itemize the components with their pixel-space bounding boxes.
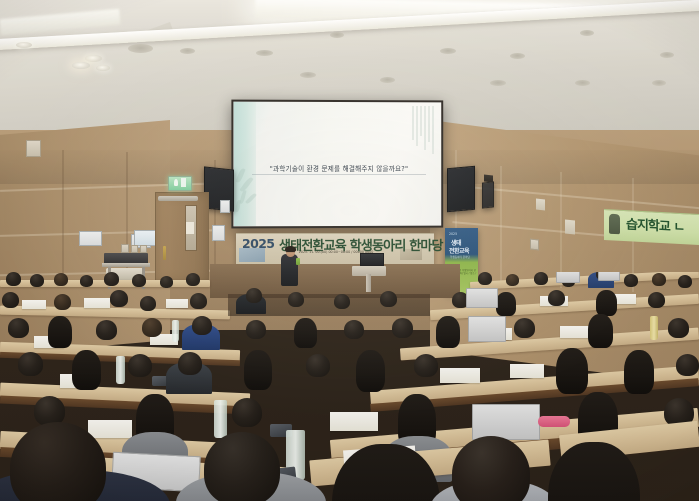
door-notice-paper	[186, 222, 194, 234]
wall-notice-sign	[79, 231, 102, 246]
water-bottle	[172, 320, 179, 342]
water-bottle	[116, 356, 125, 384]
audience-head	[80, 275, 93, 287]
downlight	[380, 77, 395, 83]
audience-head	[18, 352, 43, 376]
rollup-banner-year: 2025	[449, 232, 457, 236]
exit-sign-figure	[174, 179, 178, 186]
laptop	[468, 316, 506, 342]
downlight	[85, 55, 102, 62]
downlight	[440, 48, 456, 54]
paper-sheet	[330, 412, 378, 431]
electrical-outlet	[131, 245, 138, 253]
slide-stripe-decoration	[416, 106, 418, 146]
wall-speaker-icon	[536, 199, 545, 211]
audience-head	[140, 296, 156, 311]
stage-monitor	[360, 253, 384, 266]
exit-sign-doorway	[181, 178, 186, 187]
audience-head	[514, 318, 535, 338]
audience-head	[190, 293, 207, 309]
door-icon[interactable]	[155, 192, 209, 284]
audience-head	[246, 320, 266, 339]
laptop	[556, 272, 580, 283]
downlight	[72, 62, 90, 69]
audience-head	[246, 288, 262, 303]
audience-head	[160, 276, 173, 288]
paper-sheet	[22, 300, 46, 309]
audience-head	[204, 432, 280, 501]
wall-speaker-icon	[482, 181, 494, 208]
wall-banner-icon	[609, 214, 620, 235]
audience-head	[132, 274, 146, 287]
wall-panel-seam	[500, 166, 502, 286]
exit-sign-icon	[168, 176, 192, 191]
stage-banner-year: 2025	[242, 236, 274, 251]
presenter-hair	[285, 246, 296, 252]
audience-hair	[72, 350, 101, 390]
downlight	[490, 80, 506, 86]
audience-seating-area	[0, 272, 699, 501]
audience-head	[54, 273, 68, 286]
wall-notice-sign	[220, 200, 230, 213]
water-bottle	[650, 316, 658, 340]
paper-sheet	[166, 299, 188, 308]
audience-head	[668, 318, 689, 338]
slide-stripe-decoration	[420, 106, 422, 136]
audience-hair	[244, 350, 272, 390]
audience-head	[232, 398, 262, 427]
audience-head	[676, 354, 699, 376]
presenter-microphone	[296, 258, 300, 265]
laptop	[466, 288, 498, 308]
downlight	[575, 80, 590, 86]
wall-panel-seam	[62, 150, 64, 278]
audience-head	[142, 318, 162, 337]
audience-head	[288, 292, 304, 307]
wall-speaker-icon	[565, 219, 575, 234]
audience-hair	[294, 318, 317, 348]
light-switch-icon[interactable]	[530, 239, 539, 251]
stage-banner-subtitle: 2025. 11. 00.(00) 00:00~00:00 / 00000 00…	[248, 250, 424, 254]
audience-head	[548, 290, 565, 306]
audience-head	[8, 318, 29, 338]
light-switch-icon[interactable]	[484, 175, 493, 183]
downlight	[16, 42, 32, 48]
paper-sheet	[88, 420, 132, 438]
audience-head	[104, 272, 119, 286]
water-bottle	[214, 400, 227, 438]
paper-sheet	[440, 368, 480, 383]
audience-head	[506, 274, 519, 286]
pencil-case	[538, 416, 570, 427]
audience-head	[306, 354, 330, 377]
audience-head	[186, 273, 200, 286]
audience-head	[334, 294, 350, 309]
audience-head	[678, 275, 692, 288]
downlight	[256, 50, 273, 56]
slide-stripe-decoration	[412, 106, 414, 140]
audience-head	[392, 318, 413, 338]
laptop	[472, 404, 540, 440]
wall-access-panel	[26, 140, 41, 157]
audience-head	[96, 320, 117, 340]
audience-head	[414, 354, 438, 377]
audience-head	[178, 352, 202, 375]
audience-head	[6, 272, 21, 286]
slide-text-underline	[252, 174, 426, 175]
audience-hair	[48, 316, 72, 348]
rollup-banner-line3: 학생동아리 한마당	[450, 255, 470, 259]
downlight	[510, 53, 525, 59]
audience-head	[30, 274, 44, 287]
audience-head	[380, 291, 397, 307]
audience-head	[2, 292, 19, 308]
door-handle[interactable]	[163, 246, 166, 260]
downlight	[300, 72, 316, 78]
slide-stripe-decoration	[432, 106, 434, 154]
audience-head	[652, 273, 666, 286]
audience-head	[624, 274, 638, 287]
wall-panel-seam	[560, 172, 562, 288]
wall-banner-text: 습지학교 ㄴ	[626, 213, 684, 235]
audience-head	[344, 320, 364, 339]
audience-head	[110, 290, 128, 307]
wall-speaker-icon	[447, 166, 475, 212]
door-closer	[158, 196, 198, 201]
paper-sheet	[84, 298, 110, 308]
audience-head	[648, 292, 665, 308]
electrical-outlet	[121, 244, 129, 253]
downlight	[128, 44, 153, 53]
audience-head	[534, 272, 548, 285]
audience-hair	[556, 348, 588, 394]
rollup-banner-line2: 전환교육	[449, 246, 469, 255]
audience-hair	[596, 290, 617, 316]
audience-hair	[436, 316, 460, 348]
downlight	[580, 30, 594, 36]
downlight	[96, 65, 110, 71]
audience-hair	[496, 292, 516, 316]
audience-head	[478, 272, 492, 285]
wall-notice-sign	[212, 225, 225, 241]
audience-hair	[588, 314, 613, 348]
audience-hair	[356, 350, 385, 392]
slide-stripe-decoration	[424, 106, 426, 150]
slide-quote-text: "과학기술이 환경 문제를 해결해주지 않을까요?"	[246, 163, 432, 173]
downlight	[660, 52, 674, 58]
audience-head	[54, 294, 71, 310]
lecture-hall-photograph: "과학기술이 환경 문제를 해결해주지 않을까요?" 습지학교 ㄴ 2025 생…	[0, 0, 699, 501]
downlight	[180, 48, 195, 54]
laptop	[598, 272, 620, 281]
audience-head	[128, 354, 152, 377]
electrical-outlet	[140, 245, 147, 253]
audience-head	[192, 316, 212, 335]
downlight	[652, 80, 666, 86]
audience-hair	[624, 350, 654, 394]
paper-sheet	[560, 326, 590, 338]
paper-sheet	[510, 364, 544, 378]
downlight	[330, 32, 344, 38]
slide-stripe-decoration	[428, 106, 430, 142]
